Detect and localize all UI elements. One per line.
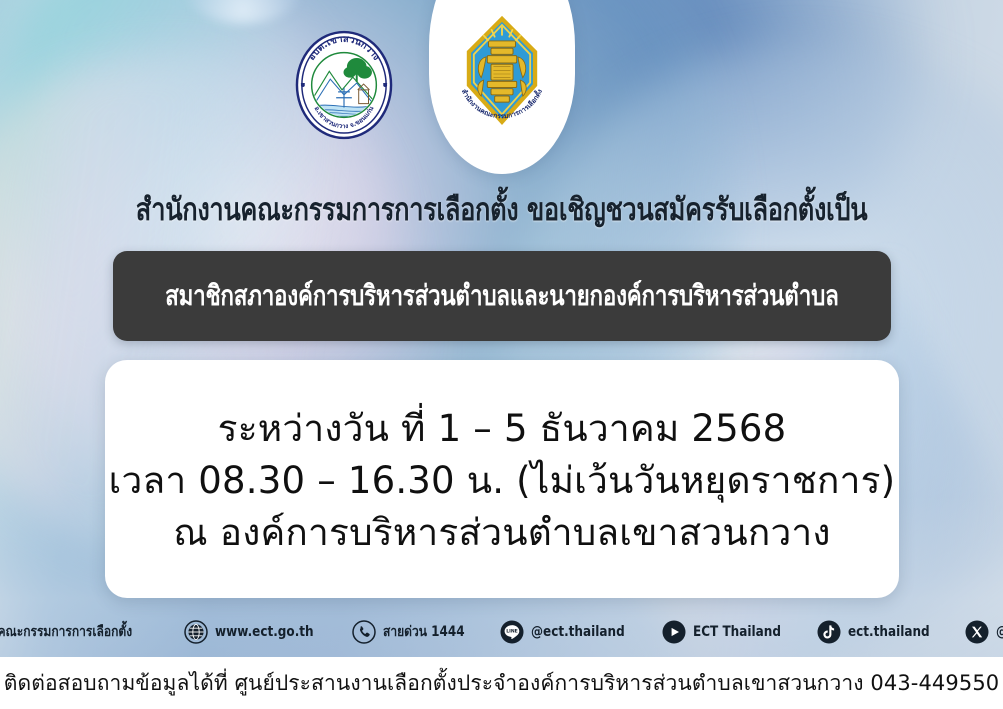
- svg-text:LINE: LINE: [506, 628, 518, 634]
- detail-line-time: เวลา 08.30 – 16.30 น. (ไม่เว้นวันหยุดราช…: [109, 457, 896, 505]
- position-banner: สมาชิกสภาองค์การบริหารส่วนตำบลและนายกองค…: [113, 251, 891, 341]
- line-icon[interactable]: LINE: [500, 620, 524, 644]
- social-label-website: www.ect.go.th: [215, 624, 314, 640]
- social-item-tiktok[interactable]: ect.thailand: [817, 620, 943, 644]
- position-banner-text: สมาชิกสภาองค์การบริหารส่วนตำบลและนายกองค…: [165, 274, 838, 318]
- page-headline: สำนักงานคณะกรรมการการเลือกตั้ง ขอเชิญชวน…: [90, 184, 912, 234]
- tiktok-icon[interactable]: [817, 620, 841, 644]
- social-label-line: @ect.thailand: [531, 624, 625, 640]
- globe-icon[interactable]: [184, 620, 208, 644]
- phone-icon[interactable]: [352, 620, 376, 644]
- social-label-x: @EctThailand: [996, 624, 1003, 640]
- social-label-facebook: สำนักงานคณะกรรมการการเลือกตั้ง: [0, 621, 132, 643]
- social-contact-bar: สำนักงานคณะกรรมการการเลือกตั้ง www.ect.g…: [0, 608, 1003, 656]
- contact-caption-strip: ติดต่อสอบถามข้อมูลได้ที่ ศูนย์ประสานงานเ…: [0, 657, 1003, 709]
- social-label-tiktok: ect.thailand: [848, 624, 930, 640]
- sao-khao-suan-kwang-seal-icon: อบต.เขาสวนกวาง อ.เขาสวนกวาง จ.ขอนแก่น: [295, 30, 393, 140]
- social-item-website[interactable]: www.ect.go.th: [184, 620, 330, 644]
- ect-emblem-icon: สำนักงานคณะกรรมการการเลือกตั้ง: [453, 14, 551, 134]
- detail-line-location: ณ องค์การบริหารส่วนตำบลเขาสวนกวาง: [173, 509, 830, 557]
- poster-canvas: อบต.เขาสวนกวาง อ.เขาสวนกวาง จ.ขอนแก่น: [0, 0, 1003, 709]
- contact-caption-text: ติดต่อสอบถามข้อมูลได้ที่ ศูนย์ประสานงานเ…: [4, 667, 1000, 700]
- social-item-hotline[interactable]: สายด่วน 1444: [352, 620, 478, 644]
- social-item-line[interactable]: LINE @ect.thailand: [500, 620, 640, 644]
- youtube-icon[interactable]: [662, 620, 686, 644]
- social-label-youtube: ECT Thailand: [693, 624, 781, 640]
- social-item-facebook[interactable]: สำนักงานคณะกรรมการการเลือกตั้ง: [0, 620, 162, 644]
- social-item-x[interactable]: @EctThailand: [965, 620, 1003, 644]
- social-item-youtube[interactable]: ECT Thailand: [662, 620, 795, 644]
- detail-line-date: ระหว่างวัน ที่ 1 – 5 ธันวาคม 2568: [218, 405, 787, 453]
- details-card: ระหว่างวัน ที่ 1 – 5 ธันวาคม 2568 เวลา 0…: [105, 360, 899, 598]
- x-icon[interactable]: [965, 620, 989, 644]
- social-label-hotline: สายด่วน 1444: [383, 621, 465, 643]
